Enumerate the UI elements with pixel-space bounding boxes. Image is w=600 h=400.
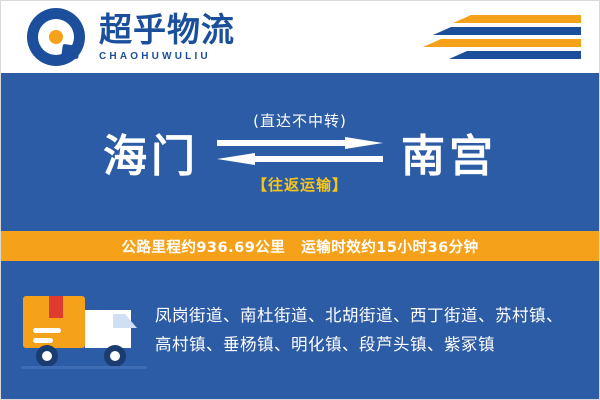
coverage-line-1: 凤岗街道、南杜街道、北胡街道、西丁街道、苏村镇、 [155, 301, 563, 330]
poster-root: 超乎物流 CHAOHUWULIU 海门 (直达不中转) [0, 0, 600, 400]
route-panel: 海门 (直达不中转) 【往返运输】 南宫 [1, 73, 599, 231]
coverage-areas: 凤岗街道、南杜街道、北胡街道、西丁街道、苏村镇、 高村镇、垂杨镇、明化镇、段芦头… [155, 301, 563, 359]
brand-name-cn: 超乎物流 [99, 12, 235, 48]
coverage-line-2: 高村镇、垂杨镇、明化镇、段芦头镇、紫冢镇 [155, 330, 563, 359]
duration-text: 运输时效约15小时36分钟 [301, 236, 478, 257]
route-middle: (直达不中转) 【往返运输】 [205, 110, 395, 195]
speed-stripes-icon [411, 15, 581, 59]
delivery-truck-icon [21, 282, 147, 378]
info-bar: 公路里程约936.69公里 运输时效约15小时36分钟 [1, 231, 599, 261]
coverage-panel: 凤岗街道、南杜街道、北胡街道、西丁街道、苏村镇、 高村镇、垂杨镇、明化镇、段芦头… [1, 261, 599, 399]
origin-city: 海门 [39, 120, 205, 184]
route-note-top: (直达不中转) [253, 110, 347, 131]
distance-text: 公路里程约936.69公里 [121, 236, 285, 257]
brand-name-en: CHAOHUWULIU [99, 51, 235, 62]
route-note-bottom: 【往返运输】 [252, 174, 348, 195]
header: 超乎物流 CHAOHUWULIU [1, 1, 599, 73]
arrow-left-icon [217, 153, 383, 165]
brand-block: 超乎物流 CHAOHUWULIU [99, 12, 235, 62]
route-arrows [217, 137, 383, 167]
circle-logo-icon [27, 8, 85, 66]
arrow-right-icon [217, 137, 383, 149]
destination-city: 南宫 [395, 120, 561, 184]
